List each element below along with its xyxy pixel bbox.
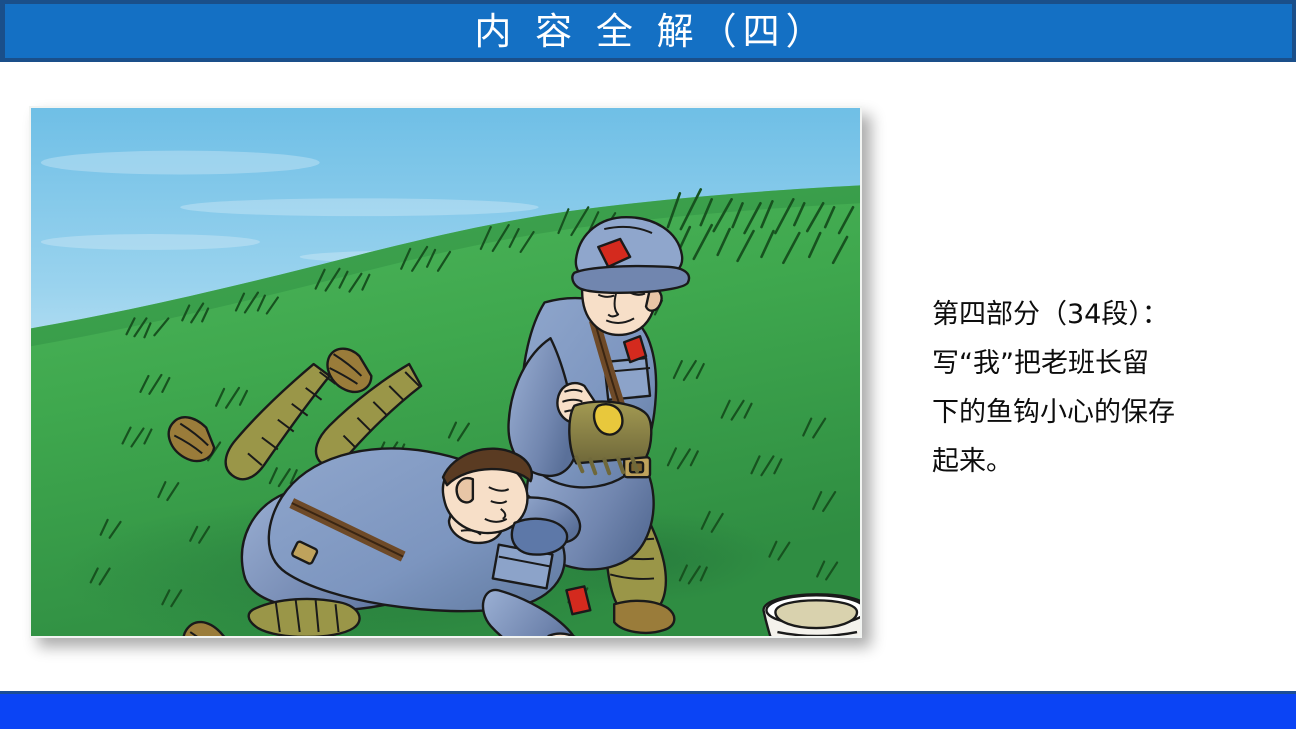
caption-text-block: 第四部分（34段）： 写“我”把老班长留 下的鱼钩小心的保存 起来。 xyxy=(932,290,1252,486)
caption-line-3: 下的鱼钩小心的保存 xyxy=(932,388,1252,437)
caption-line-4: 起来。 xyxy=(932,437,1252,486)
caption-line-2: 写“我”把老班长留 xyxy=(932,339,1252,388)
footer-bar xyxy=(0,694,1296,729)
slide-title-bar: 内 容 全 解（四） xyxy=(0,0,1296,62)
illustration-image xyxy=(29,106,862,638)
fallen-cap xyxy=(512,519,567,555)
fish-hook xyxy=(594,404,622,434)
page-title: 内 容 全 解（四） xyxy=(468,13,828,50)
bowl-liquid xyxy=(775,600,857,628)
illustration-artwork xyxy=(31,108,860,636)
enamel-bowl xyxy=(763,594,860,636)
caption-line-1: 第四部分（34段）： xyxy=(932,290,1252,339)
